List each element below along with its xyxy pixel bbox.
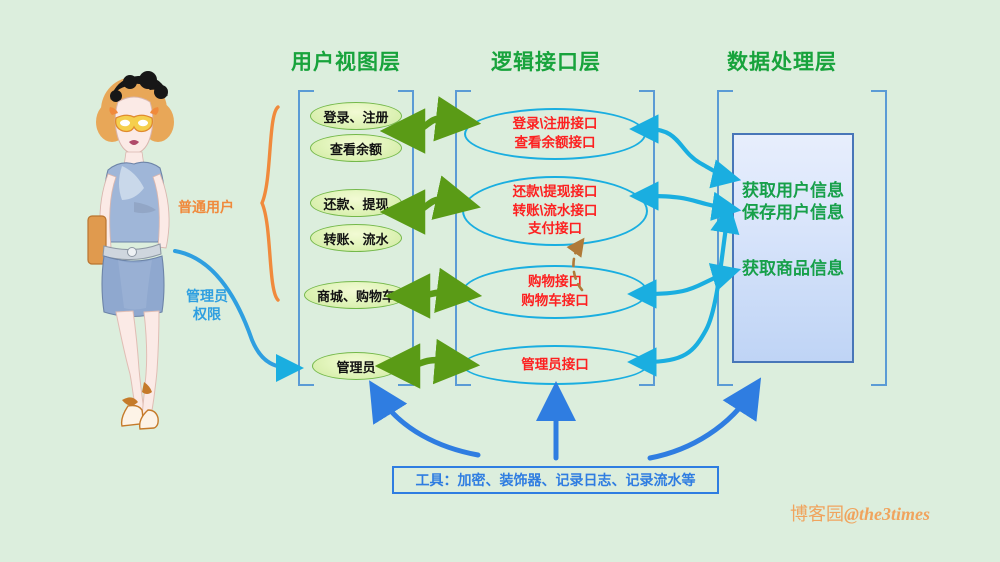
logic-node-auth-line2: 查看余额接口 — [515, 134, 596, 153]
logic-node-payment-line2: 转账\流水接口 — [513, 202, 598, 221]
logic-node-shopping[interactable]: 购物接口 购物车接口 — [462, 265, 648, 319]
brace-normal-user — [262, 107, 278, 300]
layer-title-view: 用户视图层 — [291, 46, 401, 76]
watermark-cn: 博客园 — [790, 504, 844, 524]
diagram-canvas: 用户视图层 逻辑接口层 数据处理层 登录、注册 查看余额 还款、提现 转账、流水… — [0, 0, 1000, 562]
tools-box-label: 工具：加密、装饰器、记录日志、记录流水等 — [416, 470, 696, 490]
view-item-repay[interactable]: 还款、提现 — [310, 189, 402, 217]
logic-node-shopping-line1: 购物接口 — [528, 273, 582, 292]
layer-title-logic: 逻辑接口层 — [491, 46, 601, 76]
layer-title-data: 数据处理层 — [727, 46, 837, 76]
logic-node-payment-line1: 还款\提现接口 — [513, 183, 598, 202]
view-item-transfer[interactable]: 转账、流水 — [310, 224, 402, 252]
view-item-admin-label: 管理员 — [336, 357, 375, 376]
data-processing-box — [732, 133, 854, 363]
logic-node-payment-line3: 支付接口 — [528, 220, 582, 239]
view-item-admin[interactable]: 管理员 — [312, 352, 400, 380]
data-block-user-info: 获取用户信息 保存用户信息 — [732, 180, 854, 224]
view-item-mall[interactable]: 商城、购物车 — [304, 281, 408, 309]
logic-node-admin[interactable]: 管理员接口 — [462, 345, 648, 385]
label-normal-user-line1: 普通用户 — [178, 199, 234, 217]
arrow-tools-to-data — [650, 390, 753, 458]
label-admin-permission: 管理员 权限 — [186, 288, 228, 323]
data-block-product-info-line1: 获取商品信息 — [732, 258, 854, 280]
view-item-login[interactable]: 登录、注册 — [310, 102, 402, 130]
watermark: 博客园@the3times — [790, 500, 930, 526]
logic-node-admin-line1: 管理员接口 — [521, 356, 589, 375]
data-block-product-info: 获取商品信息 — [732, 258, 854, 280]
view-item-repay-label: 还款、提现 — [323, 194, 388, 213]
data-block-user-info-line1: 获取用户信息 — [732, 180, 854, 202]
tools-box: 工具：加密、装饰器、记录日志、记录流水等 — [392, 466, 719, 494]
data-block-user-info-line2: 保存用户信息 — [732, 202, 854, 224]
logic-node-payment[interactable]: 还款\提现接口 转账\流水接口 支付接口 — [462, 176, 648, 246]
view-item-balance[interactable]: 查看余额 — [310, 134, 402, 162]
logic-node-shopping-line2: 购物车接口 — [521, 292, 589, 311]
label-admin-permission-line2: 权限 — [186, 306, 228, 324]
view-item-balance-label: 查看余额 — [330, 139, 382, 158]
view-item-transfer-label: 转账、流水 — [323, 229, 388, 248]
arrow-cyan-admin-data — [646, 214, 728, 362]
view-item-mall-label: 商城、购物车 — [317, 286, 395, 305]
arrow-tools-to-view — [377, 393, 478, 455]
watermark-latin: @the3times — [844, 504, 930, 524]
view-item-login-label: 登录、注册 — [323, 107, 388, 126]
label-normal-user: 普通用户 — [178, 199, 234, 217]
logic-node-auth[interactable]: 登录\注册接口 查看余额接口 — [464, 108, 646, 160]
logic-node-auth-line1: 登录\注册接口 — [513, 115, 598, 134]
fashion-woman-illustration — [60, 70, 220, 440]
label-admin-permission-line1: 管理员 — [186, 288, 228, 306]
